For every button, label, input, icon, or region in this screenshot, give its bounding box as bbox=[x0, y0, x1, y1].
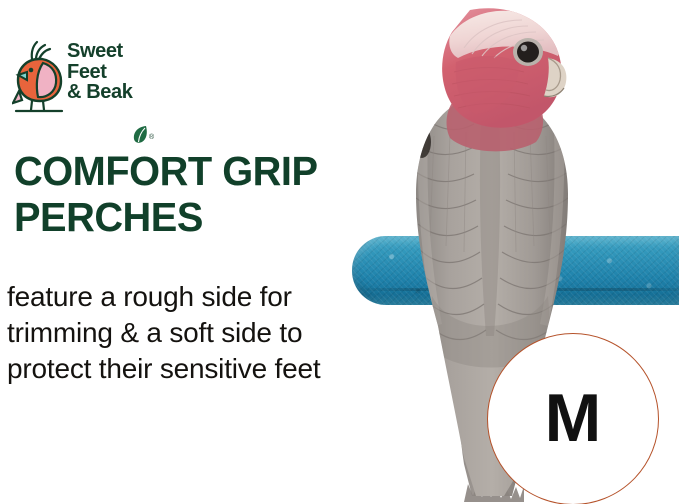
description-line-1: feature a rough side for bbox=[7, 279, 397, 315]
page-title: COMFORT GRIP PERCHES bbox=[14, 148, 402, 240]
cockatoo-bird-icon bbox=[12, 37, 66, 117]
leaf-icon bbox=[132, 125, 148, 145]
headline-line-2: PERCHES bbox=[14, 194, 402, 240]
product-infographic: Sweet Feet & Beak ® bbox=[0, 0, 679, 504]
brand-name-line-2: Feet bbox=[67, 62, 167, 83]
description-line-2: trimming & a soft side to bbox=[7, 315, 397, 351]
headline-line-1: COMFORT GRIP bbox=[14, 148, 402, 194]
registered-trademark-mark: ® bbox=[149, 134, 154, 141]
brand-name: Sweet Feet & Beak bbox=[67, 41, 167, 103]
size-badge-label: M bbox=[545, 384, 602, 452]
brand-logo: Sweet Feet & Beak ® bbox=[10, 33, 170, 123]
brand-name-line-3: & Beak bbox=[67, 82, 167, 103]
description-text: feature a rough side for trimming & a so… bbox=[7, 279, 397, 387]
size-badge: M bbox=[487, 333, 659, 504]
brand-name-line-1: Sweet bbox=[67, 41, 167, 62]
description-line-3: protect their sensitive feet bbox=[7, 351, 397, 387]
